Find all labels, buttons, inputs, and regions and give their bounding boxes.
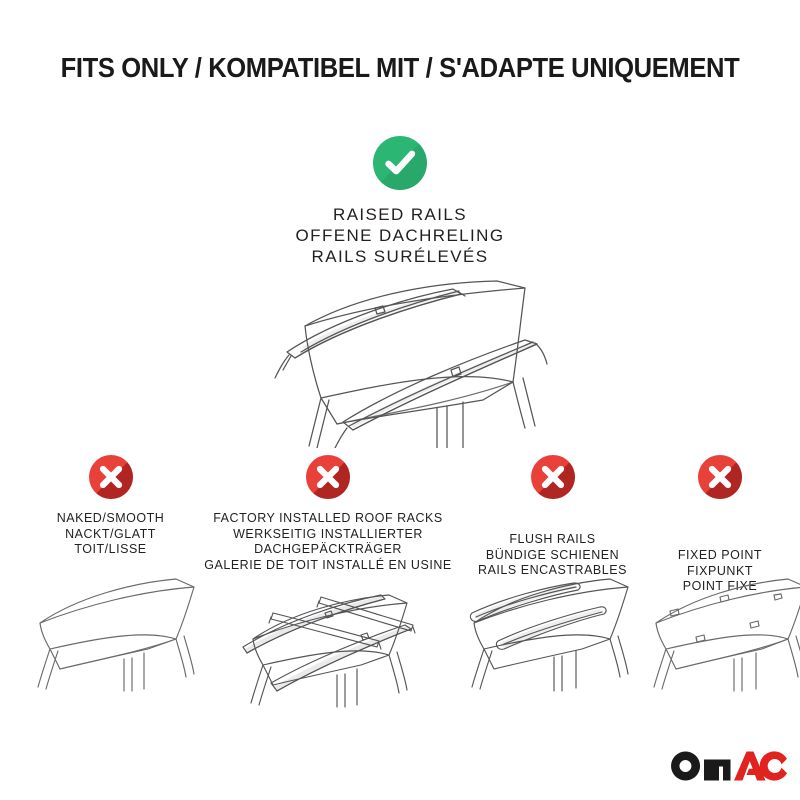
reject-label-de: WERKSEITIG INSTALLIERTER xyxy=(202,526,454,542)
check-circle-icon xyxy=(373,136,427,190)
reject-caption: NAKED/SMOOTH NACKT/GLATT TOIT/LISSE xyxy=(22,510,200,557)
x-circle-icon xyxy=(306,455,350,499)
reject-label-en: FIXED POINT xyxy=(643,547,797,563)
check-mark-glyph xyxy=(373,136,427,190)
x-circle-icon xyxy=(89,455,133,499)
reject-label-fr: GALERIE DE TOIT INSTALLÉ EN USINE xyxy=(202,557,454,573)
reject-item-fixed-point: FIXED POINT FIXPUNKT POINT FIXE xyxy=(640,455,800,594)
reject-caption: FACTORY INSTALLED ROOF RACKS WERKSEITIG … xyxy=(202,510,454,572)
reject-label-de: BÜNDIGE SCHIENEN xyxy=(459,547,646,563)
page-title: FITS ONLY / KOMPATIBEL MIT / S'ADAPTE UN… xyxy=(28,52,772,84)
approved-caption: RAISED RAILS OFFENE DACHRELING RAILS SUR… xyxy=(0,204,800,267)
reject-label-en: NAKED/SMOOTH xyxy=(22,510,200,526)
incompatible-options-row: NAKED/SMOOTH NACKT/GLATT TOIT/LISSE xyxy=(0,455,800,695)
reject-label-de: NACKT/GLATT xyxy=(22,526,200,542)
car-roof-fixed-point-illustration xyxy=(634,573,800,693)
reject-item-factory-rack: FACTORY INSTALLED ROOF RACKS WERKSEITIG … xyxy=(197,455,459,572)
x-circle-icon xyxy=(698,455,742,499)
x-circle-icon xyxy=(531,455,575,499)
x-mark-glyph xyxy=(698,455,742,499)
x-mark-glyph xyxy=(531,455,575,499)
reject-label-en: FACTORY INSTALLED ROOF RACKS xyxy=(202,510,454,526)
reject-label-en: FLUSH RAILS xyxy=(459,531,646,547)
x-mark-glyph xyxy=(306,455,350,499)
approved-label-de: OFFENE DACHRELING xyxy=(0,225,800,246)
approved-label-fr: RAILS SURÉLEVÉS xyxy=(0,246,800,267)
approved-label-en: RAISED RAILS xyxy=(0,204,800,225)
car-roof-factory-rack-illustration xyxy=(229,583,429,708)
omac-logo-om xyxy=(671,752,730,781)
reject-label-fr: TOIT/LISSE xyxy=(22,541,200,557)
reject-item-flush-rails: FLUSH RAILS BÜNDIGE SCHIENEN RAILS ENCAS… xyxy=(455,455,650,578)
reject-label-de2: DACHGEPÄCKTRÄGER xyxy=(202,541,454,557)
car-roof-naked-illustration xyxy=(16,573,206,693)
approved-compatibility-block: RAISED RAILS OFFENE DACHRELING RAILS SUR… xyxy=(0,136,800,267)
car-roof-flush-rails-illustration xyxy=(450,573,640,693)
car-roof-raised-rails-illustration xyxy=(225,278,585,448)
x-mark-glyph xyxy=(89,455,133,499)
reject-item-naked-smooth: NAKED/SMOOTH NACKT/GLATT TOIT/LISSE xyxy=(18,455,203,557)
reject-caption: FLUSH RAILS BÜNDIGE SCHIENEN RAILS ENCAS… xyxy=(459,531,646,578)
omac-logo xyxy=(668,748,788,790)
